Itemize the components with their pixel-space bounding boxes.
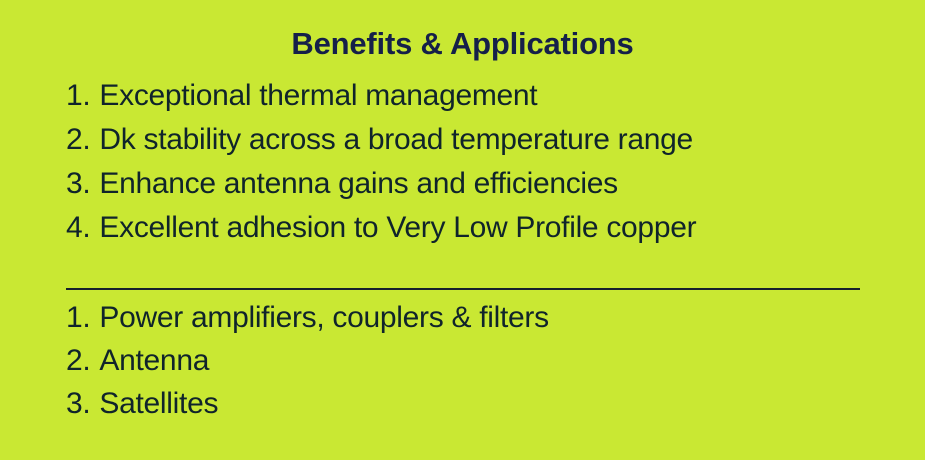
list-item-label: Antenna: [99, 339, 209, 382]
list-item-number: 2.: [66, 118, 90, 162]
list-item: 2. Dk stability across a broad temperatu…: [66, 118, 911, 162]
slide-canvas: Benefits & Applications 1. Exceptional t…: [0, 0, 925, 460]
list-item-number: 1.: [66, 296, 90, 339]
list-item-label: Enhance antenna gains and efficiencies: [99, 162, 617, 206]
list-item-number: 2.: [66, 339, 90, 382]
section-divider: [66, 288, 860, 290]
page-title: Benefits & Applications: [0, 26, 925, 62]
list-item-label: Power amplifiers, couplers & filters: [99, 296, 548, 339]
list-item-number: 3.: [66, 382, 90, 425]
list-item-number: 1.: [66, 74, 90, 118]
list-item: 4. Excellent adhesion to Very Low Profil…: [66, 206, 911, 250]
list-item: 2. Antenna: [66, 339, 911, 382]
list-item-label: Excellent adhesion to Very Low Profile c…: [99, 206, 696, 250]
benefits-list: 1. Exceptional thermal management 2. Dk …: [66, 74, 911, 250]
list-item-label: Satellites: [99, 382, 218, 425]
list-item-number: 4.: [66, 206, 90, 250]
list-item-number: 3.: [66, 162, 90, 206]
applications-list: 1. Power amplifiers, couplers & filters …: [66, 296, 911, 425]
list-item: 1. Power amplifiers, couplers & filters: [66, 296, 911, 339]
list-item-label: Dk stability across a broad temperature …: [99, 118, 692, 162]
list-item: 3. Enhance antenna gains and efficiencie…: [66, 162, 911, 206]
list-item: 3. Satellites: [66, 382, 911, 425]
list-item-label: Exceptional thermal management: [99, 74, 537, 118]
list-item: 1. Exceptional thermal management: [66, 74, 911, 118]
